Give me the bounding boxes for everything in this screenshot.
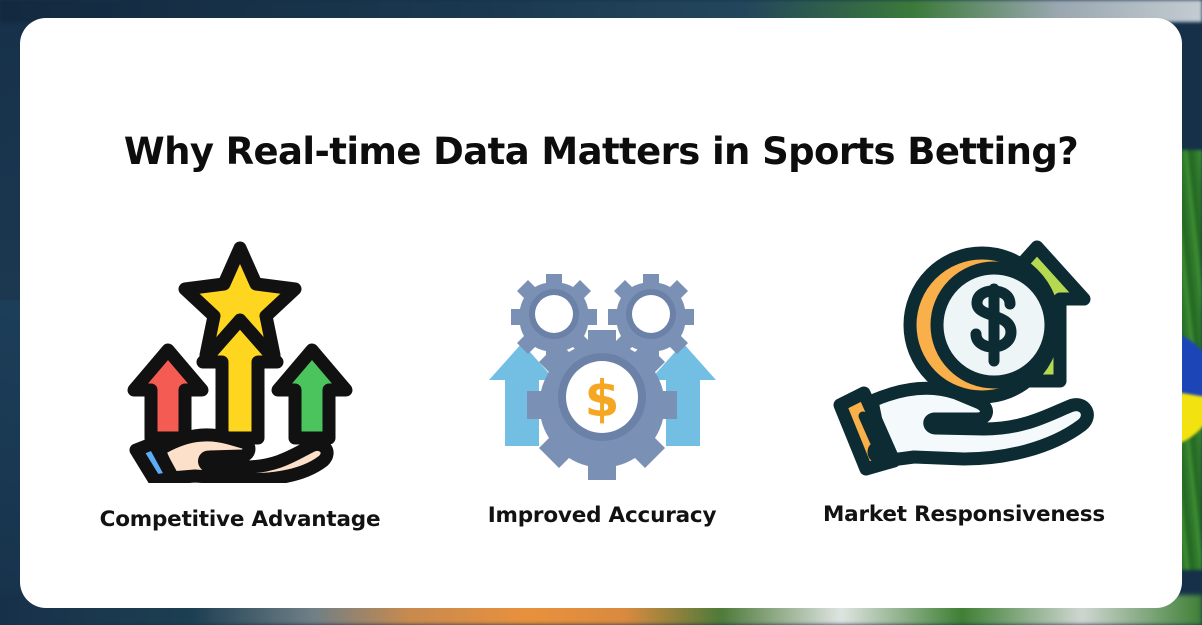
feature-columns: Competitive Advantage (20, 233, 1182, 563)
feature-label: Improved Accuracy (422, 503, 782, 528)
gears-dollar-arrows-icon: $ (485, 268, 720, 483)
icon-container (60, 233, 420, 483)
page-title: Why Real-time Data Matters in Sports Bet… (20, 130, 1182, 173)
feature-item-market-responsiveness: Market Responsiveness (784, 233, 1144, 527)
icon-container: $ (422, 233, 782, 483)
cuff-detail-dot (874, 447, 884, 457)
hand-holding-growth-arrows-star-icon (125, 238, 355, 483)
icon-container (784, 233, 1144, 483)
gear-main-shape: $ (527, 330, 677, 480)
feature-label: Competitive Advantage (60, 507, 420, 532)
feature-label: Market Responsiveness (784, 502, 1144, 527)
content-card: Why Real-time Data Matters in Sports Bet… (20, 18, 1182, 608)
feature-item-competitive-advantage: Competitive Advantage (60, 233, 420, 532)
dollar-sign-glyph: $ (584, 370, 619, 428)
feature-item-improved-accuracy: $ Improved Accuracy (422, 233, 782, 528)
arrow-left-shape (134, 350, 202, 438)
arrow-right-shape (278, 350, 346, 438)
hand-coin-rising-arrow-icon (832, 233, 1097, 483)
infographic-canvas: Why Real-time Data Matters in Sports Bet… (0, 0, 1202, 625)
hand-shape (872, 388, 1087, 461)
